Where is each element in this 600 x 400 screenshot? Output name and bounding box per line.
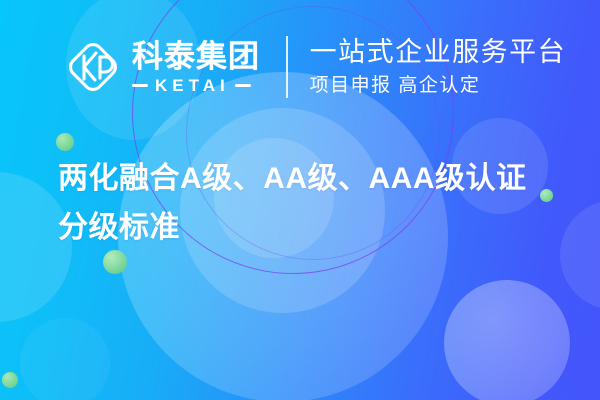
brand-rule-left — [132, 84, 148, 87]
tagline-main: 一站式企业服务平台 — [310, 37, 567, 67]
page-title-line-2: 分级标准 — [58, 204, 568, 253]
decorative-circle-bottom-right — [444, 280, 570, 400]
decorative-green-dot-bottom-edge — [2, 372, 18, 388]
header-divider — [286, 36, 288, 98]
page-title: 两化融合A级、AA级、AAA级认证 分级标准 — [58, 155, 568, 252]
brand-name-cn: 科泰集团 — [132, 41, 260, 72]
decorative-green-dot-lower-left — [103, 250, 127, 274]
decorative-green-dot-upper-left — [56, 133, 74, 151]
brand-name-en: KETAI — [155, 77, 230, 94]
brand-rule-right — [235, 84, 251, 87]
decorative-circle-bottom-left — [20, 318, 110, 400]
promo-banner: 科泰集团 KETAI 一站式企业服务平台 项目申报 高企认定 两化融合A级、AA… — [0, 0, 600, 400]
tagline-block: 一站式企业服务平台 项目申报 高企认定 — [310, 37, 567, 98]
ketai-diamond-kp-logo-icon — [62, 36, 124, 98]
brand-name-en-row: KETAI — [132, 77, 260, 94]
tagline-sub: 项目申报 高企认定 — [310, 74, 567, 98]
banner-header: 科泰集团 KETAI 一站式企业服务平台 项目申报 高企认定 — [62, 36, 566, 98]
page-title-line-1: 两化融合A级、AA级、AAA级认证 — [58, 155, 568, 204]
brand-wordmark: 科泰集团 KETAI — [132, 41, 260, 94]
